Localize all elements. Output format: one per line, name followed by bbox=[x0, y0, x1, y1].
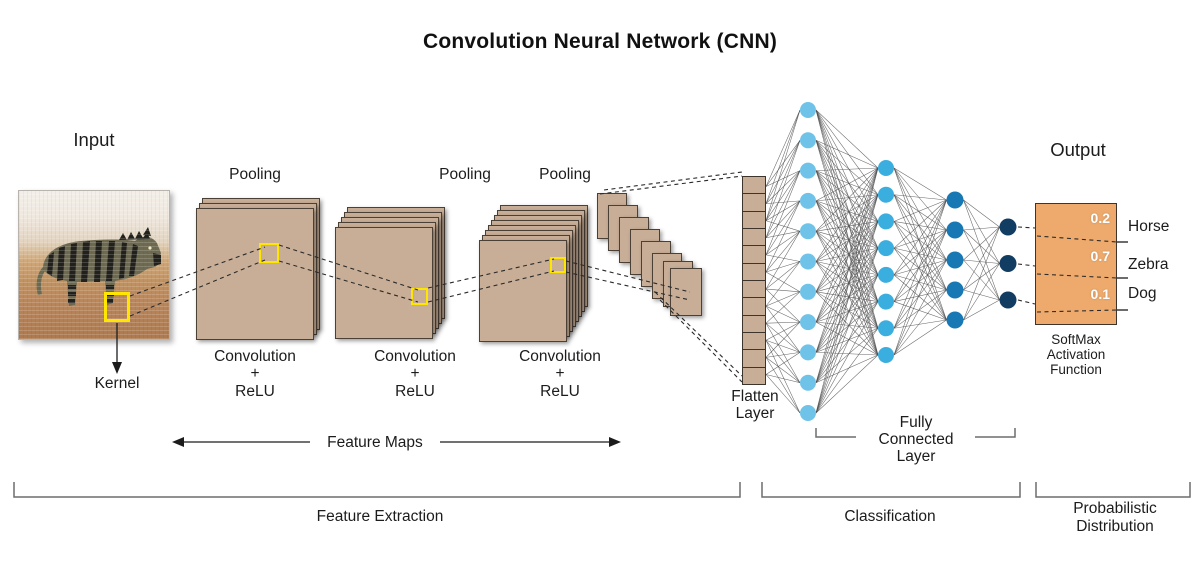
fc-layer-4 bbox=[1000, 219, 1017, 309]
conv-label-1: Convolution + ReLU bbox=[196, 348, 314, 400]
output-label: Output bbox=[1018, 140, 1138, 161]
bracket-feature-extraction bbox=[14, 482, 740, 497]
feature-map-1-front bbox=[196, 208, 314, 340]
fc-layer-4-node-3 bbox=[1000, 292, 1017, 309]
feature-map-2-kernel-box bbox=[411, 288, 428, 305]
fc-layer-1-node-9 bbox=[800, 344, 816, 360]
zebra-illustration bbox=[19, 191, 170, 340]
section-label-probabilistic-distribution: Probabilistic Distribution bbox=[1045, 500, 1185, 536]
fc-layer-1-node-11 bbox=[800, 405, 816, 421]
feature-map-3-front bbox=[479, 240, 567, 342]
flatten-cell bbox=[743, 194, 765, 211]
fc-layer-2-node-8 bbox=[878, 347, 894, 363]
pooling-label-1: Pooling bbox=[196, 166, 314, 183]
softmax-caption: SoftMax Activation Function bbox=[1030, 332, 1122, 377]
fc-layer-1-node-2 bbox=[800, 132, 816, 148]
bracket-probabilistic-distribution bbox=[1036, 482, 1190, 497]
kernel-label: Kernel bbox=[62, 375, 172, 392]
flatten-cell bbox=[743, 229, 765, 246]
pooling-label-2: Pooling bbox=[416, 166, 514, 183]
input-kernel-box bbox=[104, 292, 130, 322]
fc-layer-2-node-5 bbox=[878, 267, 894, 283]
network-edges bbox=[766, 110, 1000, 413]
probability-horse: 0.2 bbox=[1091, 210, 1110, 226]
fc-layer-1-node-6 bbox=[800, 254, 816, 270]
pooling-label-3: Pooling bbox=[516, 166, 614, 183]
section-label-classification: Classification bbox=[800, 508, 980, 525]
fc-layer-1-node-3 bbox=[800, 163, 816, 179]
flatten-cell bbox=[743, 264, 765, 281]
feature-maps-label: Feature Maps bbox=[140, 434, 610, 451]
fc-layer-3-node-2 bbox=[947, 222, 964, 239]
fc-layer-3-node-5 bbox=[947, 312, 964, 329]
flatten-cell bbox=[743, 246, 765, 263]
fc-layer-2-node-6 bbox=[878, 294, 894, 310]
flatten-cell bbox=[743, 368, 765, 384]
conv-label-3: Convolution + ReLU bbox=[511, 348, 609, 400]
fc-layer-2-node-1 bbox=[878, 160, 894, 176]
flatten-cell bbox=[743, 350, 765, 367]
fc-layer-4-node-2 bbox=[1000, 255, 1017, 272]
fc-layer-2 bbox=[878, 160, 894, 363]
cascade-map-8 bbox=[670, 268, 702, 316]
fc-layer-1-node-1 bbox=[800, 102, 816, 118]
fc-layer-2-node-4 bbox=[878, 240, 894, 256]
flatten-layer-label: Flatten Layer bbox=[712, 388, 798, 423]
flatten-cell bbox=[743, 281, 765, 298]
bracket-classification bbox=[762, 482, 1020, 497]
fc-layer-3-node-3 bbox=[947, 252, 964, 269]
fc-layer-3 bbox=[947, 192, 964, 329]
fc-layer-1-node-10 bbox=[800, 375, 816, 391]
fc-layer-2-node-7 bbox=[878, 320, 894, 336]
diagram-connectors bbox=[0, 0, 1200, 564]
section-label-feature-extraction: Feature Extraction bbox=[200, 508, 560, 525]
probability-zebra: 0.7 bbox=[1091, 248, 1110, 264]
fc-layer-1 bbox=[800, 102, 816, 421]
fully-connected-label: Fully Connected Layer bbox=[855, 414, 977, 465]
flatten-cell bbox=[743, 212, 765, 229]
fc-layer-1-node-7 bbox=[800, 284, 816, 300]
page-title: Convolution Neural Network (CNN) bbox=[0, 30, 1200, 54]
class-label-zebra: Zebra bbox=[1128, 256, 1169, 274]
fc-layer-1-node-8 bbox=[800, 314, 816, 330]
input-image bbox=[18, 190, 170, 340]
flatten-cell bbox=[743, 177, 765, 194]
feature-map-2-front bbox=[335, 227, 433, 339]
fc-layer-2-node-3 bbox=[878, 213, 894, 229]
feature-map-3-kernel-box bbox=[550, 257, 566, 273]
fc-layer-2-node-2 bbox=[878, 187, 894, 203]
class-label-dog: Dog bbox=[1128, 285, 1156, 303]
cnn-diagram: Convolution Neural Network (CNN) Input bbox=[0, 0, 1200, 564]
flatten-cell bbox=[743, 333, 765, 350]
fully-connected-network bbox=[0, 0, 1200, 564]
fc-layer-1-node-5 bbox=[800, 223, 816, 239]
fc-layer-3-node-1 bbox=[947, 192, 964, 209]
probability-dog: 0.1 bbox=[1091, 286, 1110, 302]
conv-label-2: Convolution + ReLU bbox=[366, 348, 464, 400]
fc-layer-4-node-1 bbox=[1000, 219, 1017, 236]
feature-map-1-kernel-box bbox=[259, 243, 279, 263]
flatten-cell bbox=[743, 298, 765, 315]
softmax-box: 0.2 0.7 0.1 bbox=[1035, 203, 1117, 325]
class-label-horse: Horse bbox=[1128, 218, 1169, 236]
fc-layer-1-node-4 bbox=[800, 193, 816, 209]
input-label: Input bbox=[18, 130, 170, 151]
flatten-layer-column bbox=[742, 176, 766, 385]
fc-layer-3-node-4 bbox=[947, 282, 964, 299]
flatten-cell bbox=[743, 316, 765, 333]
